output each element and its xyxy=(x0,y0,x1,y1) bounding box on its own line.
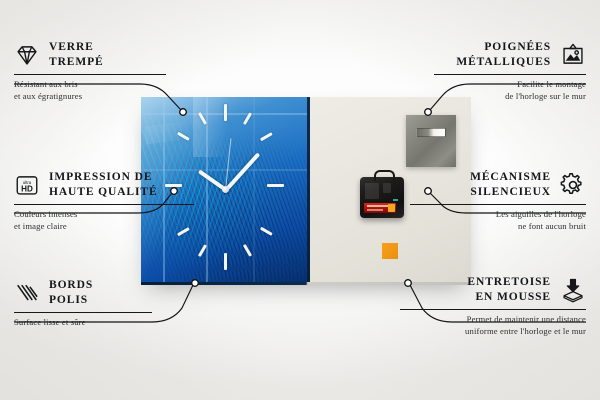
battery-label xyxy=(367,209,383,211)
movement-hanger-loop xyxy=(374,170,395,181)
callout-header: VERRE TREMPÉ xyxy=(14,40,166,70)
movement-detail xyxy=(383,183,391,193)
grid-line-vertical xyxy=(253,97,255,284)
clock-tick xyxy=(267,184,284,187)
clock-center-cap xyxy=(222,186,229,193)
hanging-frame-icon xyxy=(560,42,586,68)
callout-subtitle: Facilite le montage de l'horloge sur le … xyxy=(434,79,586,102)
callout-subtitle: Surface lisse et sûre xyxy=(14,317,152,328)
ultra-hd-icon: ultra HD xyxy=(14,172,40,198)
callout-impression-haute-qualite[interactable]: ultra HD IMPRESSION DE HAUTE QUALITÉ Cou… xyxy=(14,170,194,232)
callout-header: ENTRETOISE EN MOUSSE xyxy=(400,275,586,305)
callout-title: IMPRESSION DE HAUTE QUALITÉ xyxy=(49,170,158,200)
callout-rule xyxy=(14,74,166,75)
quartz-movement xyxy=(360,177,404,218)
callout-bords-polis[interactable]: BORDS POLIS Surface lisse et sûre xyxy=(14,278,152,329)
battery-label xyxy=(367,205,389,207)
callout-rule xyxy=(400,309,586,310)
callout-poignees-metalliques[interactable]: POIGNÉES MÉTALLIQUES Facilite le montage… xyxy=(434,40,586,102)
svg-text:HD: HD xyxy=(21,185,33,194)
callout-header: MÉCANISME SILENCIEUX xyxy=(410,170,586,200)
panel-edge xyxy=(307,97,310,284)
callout-subtitle: Permet de maintenir une distance uniform… xyxy=(400,314,586,337)
callout-title: VERRE TREMPÉ xyxy=(49,40,104,70)
callout-title: ENTRETOISE EN MOUSSE xyxy=(467,275,551,305)
foam-spacer-icon xyxy=(560,277,586,303)
callout-header: BORDS POLIS xyxy=(14,278,152,308)
callout-subtitle: Les aiguilles de l'horloge ne font aucun… xyxy=(410,209,586,232)
callout-subtitle: Couleurs intenses et image claire xyxy=(14,209,194,232)
callout-rule xyxy=(410,204,586,205)
callout-mecanisme-silencieux[interactable]: MÉCANISME SILENCIEUX Les aiguilles de l'… xyxy=(410,170,586,232)
callout-subtitle: Résistant aux bris et aux égratignures xyxy=(14,79,166,102)
movement-detail xyxy=(365,183,379,199)
callout-rule xyxy=(14,204,194,205)
callout-header: POIGNÉES MÉTALLIQUES xyxy=(434,40,586,70)
callout-title: BORDS POLIS xyxy=(49,278,93,308)
clock-tick xyxy=(224,104,227,121)
clock-tick xyxy=(224,253,227,270)
callout-title: MÉCANISME SILENCIEUX xyxy=(470,170,551,200)
hanger-slot xyxy=(416,128,446,137)
callout-rule xyxy=(14,312,152,313)
movement-detail xyxy=(393,199,398,201)
callout-entretoise-en-mousse[interactable]: ENTRETOISE EN MOUSSE Permet de maintenir… xyxy=(400,275,586,337)
gear-icon xyxy=(560,172,586,198)
battery-positive-terminal xyxy=(388,204,395,212)
diamond-icon xyxy=(14,42,40,68)
callout-header: ultra HD IMPRESSION DE HAUTE QUALITÉ xyxy=(14,170,194,200)
infographic-canvas: VERRE TREMPÉ Résistant aux bris et aux é… xyxy=(0,0,600,400)
foam-spacer xyxy=(382,243,398,259)
metal-hanger-plate xyxy=(406,115,456,167)
battery xyxy=(364,203,396,213)
callout-rule xyxy=(434,74,586,75)
polished-edges-icon xyxy=(14,280,40,306)
callout-title: POIGNÉES MÉTALLIQUES xyxy=(456,40,551,70)
callout-verre-trempe[interactable]: VERRE TREMPÉ Résistant aux bris et aux é… xyxy=(14,40,166,102)
